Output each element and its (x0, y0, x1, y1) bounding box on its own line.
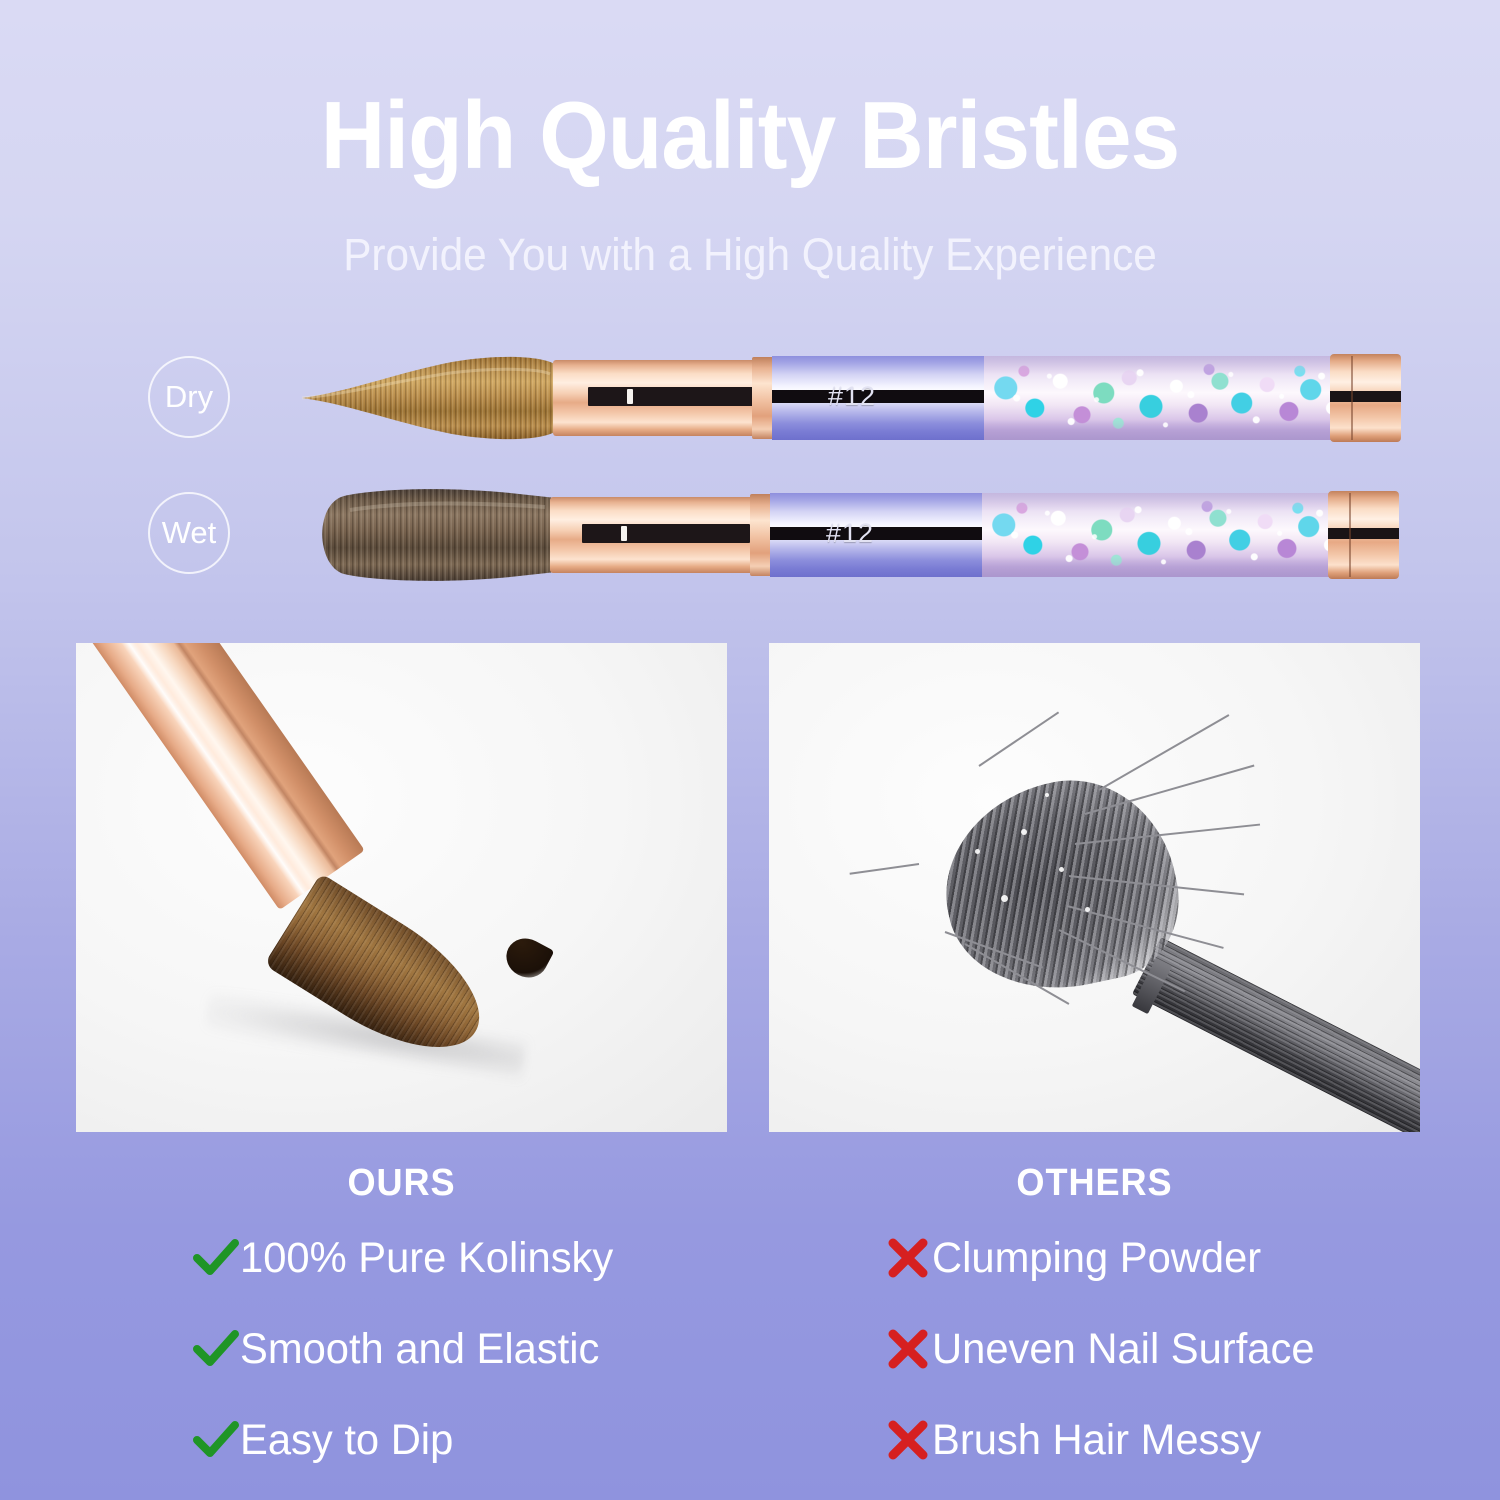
glitter-sheen-bottom-dry (984, 420, 1347, 440)
state-badge-wet: Wet (148, 492, 230, 574)
infographic-page: High Quality Bristles Provide You with a… (0, 0, 1500, 1500)
glitter-sheen-top-dry (984, 356, 1347, 374)
glitter-handle-wet (982, 493, 1345, 577)
ferrule-crimp-dot-dry (627, 389, 633, 404)
glitter-sheen-top-wet (982, 493, 1345, 511)
brush-illustration-wet: #12 (310, 480, 1400, 590)
bristle-tip-pointed-icon (300, 343, 560, 453)
list-item: Smooth and Elastic (192, 1313, 625, 1385)
cross-icon (884, 1238, 932, 1278)
page-title: High Quality Bristles (53, 88, 1448, 184)
dust-speck-icon (1059, 867, 1064, 872)
list-item: Easy to Dip (192, 1404, 625, 1476)
check-icon (192, 1420, 240, 1460)
handle-size-label-wet: #12 (826, 518, 874, 549)
brush-illustration-dry: #12 (300, 343, 1400, 453)
list-item: Clumping Powder (884, 1222, 1326, 1294)
dust-speck-icon (1021, 829, 1027, 835)
list-item-label: Uneven Nail Surface (932, 1325, 1315, 1374)
end-cap-line-wet (1328, 528, 1399, 539)
dust-speck-icon (1001, 895, 1008, 902)
check-icon (192, 1238, 240, 1278)
glitter-handle-dry (984, 356, 1347, 440)
dust-speck-icon (1085, 907, 1090, 912)
ferrule-crimp-dry (588, 387, 754, 406)
photo-others-brush (769, 643, 1420, 1132)
state-badge-wet-label: Wet (162, 515, 217, 551)
bristle-tip-rounded-icon (310, 480, 560, 590)
column-heading-others: OTHERS (785, 1162, 1403, 1205)
handle-stripe-dry (772, 390, 984, 403)
end-cap-seam-wet (1349, 493, 1351, 577)
handle-stripe-wet (770, 527, 982, 540)
end-cap-seam-dry (1351, 356, 1353, 440)
ferrule-collar-dry (752, 357, 774, 439)
photo-ours-brush (76, 643, 727, 1132)
handle-size-label-dry: #12 (828, 381, 876, 412)
dust-speck-icon (1045, 793, 1049, 797)
list-item-label: Brush Hair Messy (932, 1416, 1261, 1465)
list-item-label: Smooth and Elastic (240, 1325, 599, 1374)
glitter-sheen-bottom-wet (982, 557, 1345, 577)
ferrule-crimp-dot-wet (621, 526, 627, 541)
end-cap-line-dry (1330, 391, 1401, 402)
feature-list-ours: 100% Pure Kolinsky Smooth and Elastic Ea… (192, 1222, 625, 1495)
list-item: 100% Pure Kolinsky (192, 1222, 625, 1294)
list-item: Uneven Nail Surface (884, 1313, 1326, 1385)
list-item: Brush Hair Messy (884, 1404, 1326, 1476)
check-icon (192, 1329, 240, 1369)
cross-icon (884, 1329, 932, 1369)
list-item-label: Clumping Powder (932, 1234, 1261, 1283)
feature-list-others: Clumping Powder Uneven Nail Surface Brus… (884, 1222, 1326, 1495)
cross-icon (884, 1420, 932, 1460)
ferrule-collar-wet (750, 494, 772, 576)
list-item-label: 100% Pure Kolinsky (240, 1234, 613, 1283)
page-subtitle: Provide You with a High Quality Experien… (45, 232, 1455, 277)
state-badge-dry: Dry (148, 356, 230, 438)
dust-speck-icon (975, 849, 980, 854)
list-item-label: Easy to Dip (240, 1416, 453, 1465)
state-badge-dry-label: Dry (165, 379, 213, 415)
column-heading-ours: OURS (92, 1162, 710, 1205)
ferrule-crimp-wet (582, 524, 750, 543)
